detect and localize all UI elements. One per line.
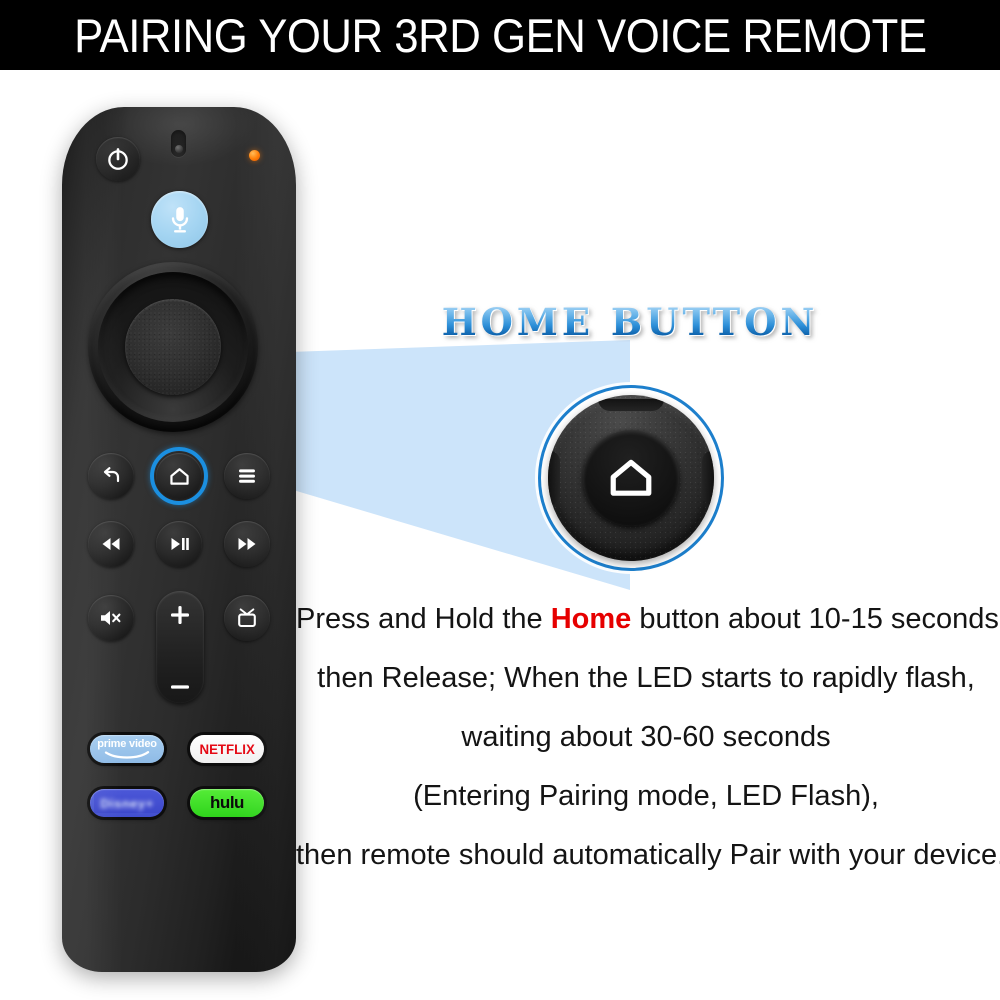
app-label-hulu: hulu xyxy=(210,793,244,813)
fast-forward-button[interactable] xyxy=(224,521,270,567)
minus-icon[interactable] xyxy=(168,683,192,691)
app-button-hulu[interactable]: hulu xyxy=(190,789,264,817)
microphone-slot xyxy=(171,130,186,157)
instruction-line-1-part-a: Press and Hold the xyxy=(296,603,551,635)
instruction-line-2: then Release; When the LED starts to rap… xyxy=(296,649,996,708)
app-label-prime-video: prime video xyxy=(97,739,157,750)
mute-button[interactable] xyxy=(88,595,134,641)
magnified-notch-right xyxy=(702,450,714,506)
app-label-netflix: NETFLIX xyxy=(199,741,254,757)
volume-rocker[interactable] xyxy=(156,591,204,703)
play-pause-button[interactable] xyxy=(156,521,202,567)
magnified-notch-top xyxy=(598,399,664,411)
microphone-icon xyxy=(167,205,193,235)
back-button[interactable] xyxy=(88,453,134,499)
censor-overlay xyxy=(90,789,164,817)
home-button-highlight-ring xyxy=(150,447,208,505)
voice-button[interactable] xyxy=(151,191,208,248)
instructions-block: Press and Hold the Home button about 10-… xyxy=(296,590,996,885)
rewind-icon xyxy=(99,535,123,553)
instruction-line-1: Press and Hold the Home button about 10-… xyxy=(296,590,996,649)
select-button[interactable] xyxy=(125,299,221,395)
app-button-netflix[interactable]: NETFLIX xyxy=(190,735,264,763)
back-arrow-icon xyxy=(99,464,123,488)
magnified-notch-left xyxy=(548,450,560,506)
play-pause-icon xyxy=(167,535,191,553)
navigation-ring-inner[interactable] xyxy=(98,272,248,422)
mute-icon xyxy=(98,608,124,628)
callout-title: HOME BUTTON xyxy=(420,300,840,344)
power-button[interactable] xyxy=(96,137,140,181)
app-button-prime-video[interactable]: prime video xyxy=(90,735,164,763)
page-title: PAIRING YOUR 3RD GEN VOICE REMOTE xyxy=(74,12,927,59)
page-root: PAIRING YOUR 3RD GEN VOICE REMOTE xyxy=(0,0,1000,1000)
fast-forward-icon xyxy=(235,535,259,553)
instruction-line-1-part-c: button about 10-15 seconds, xyxy=(631,603,1000,635)
instruction-line-3: waiting about 30-60 seconds xyxy=(296,708,996,767)
menu-lines-icon xyxy=(235,466,259,486)
navigation-ring[interactable] xyxy=(88,262,258,432)
instruction-line-5: then remote should automatically Pair wi… xyxy=(296,826,996,885)
voice-remote: prime video NETFLIX Disney+ hulu xyxy=(62,107,296,972)
status-led xyxy=(249,150,260,161)
instruction-line-4: (Entering Pairing mode, LED Flash), xyxy=(296,767,996,826)
header-banner: PAIRING YOUR 3RD GEN VOICE REMOTE xyxy=(0,0,1000,70)
magnified-navigation-ring xyxy=(548,395,714,561)
app-button-disney-plus[interactable]: Disney+ xyxy=(90,789,164,817)
home-button-magnifier xyxy=(538,385,724,571)
prime-swoosh-icon xyxy=(104,751,150,759)
menu-button[interactable] xyxy=(224,453,270,499)
plus-icon[interactable] xyxy=(168,603,192,627)
instruction-home-keyword: Home xyxy=(551,603,632,635)
live-tv-button[interactable] xyxy=(224,595,270,641)
home-icon xyxy=(605,452,657,504)
rewind-button[interactable] xyxy=(88,521,134,567)
magnified-home-button xyxy=(583,430,679,526)
power-icon xyxy=(105,146,131,172)
tv-icon xyxy=(235,607,259,629)
